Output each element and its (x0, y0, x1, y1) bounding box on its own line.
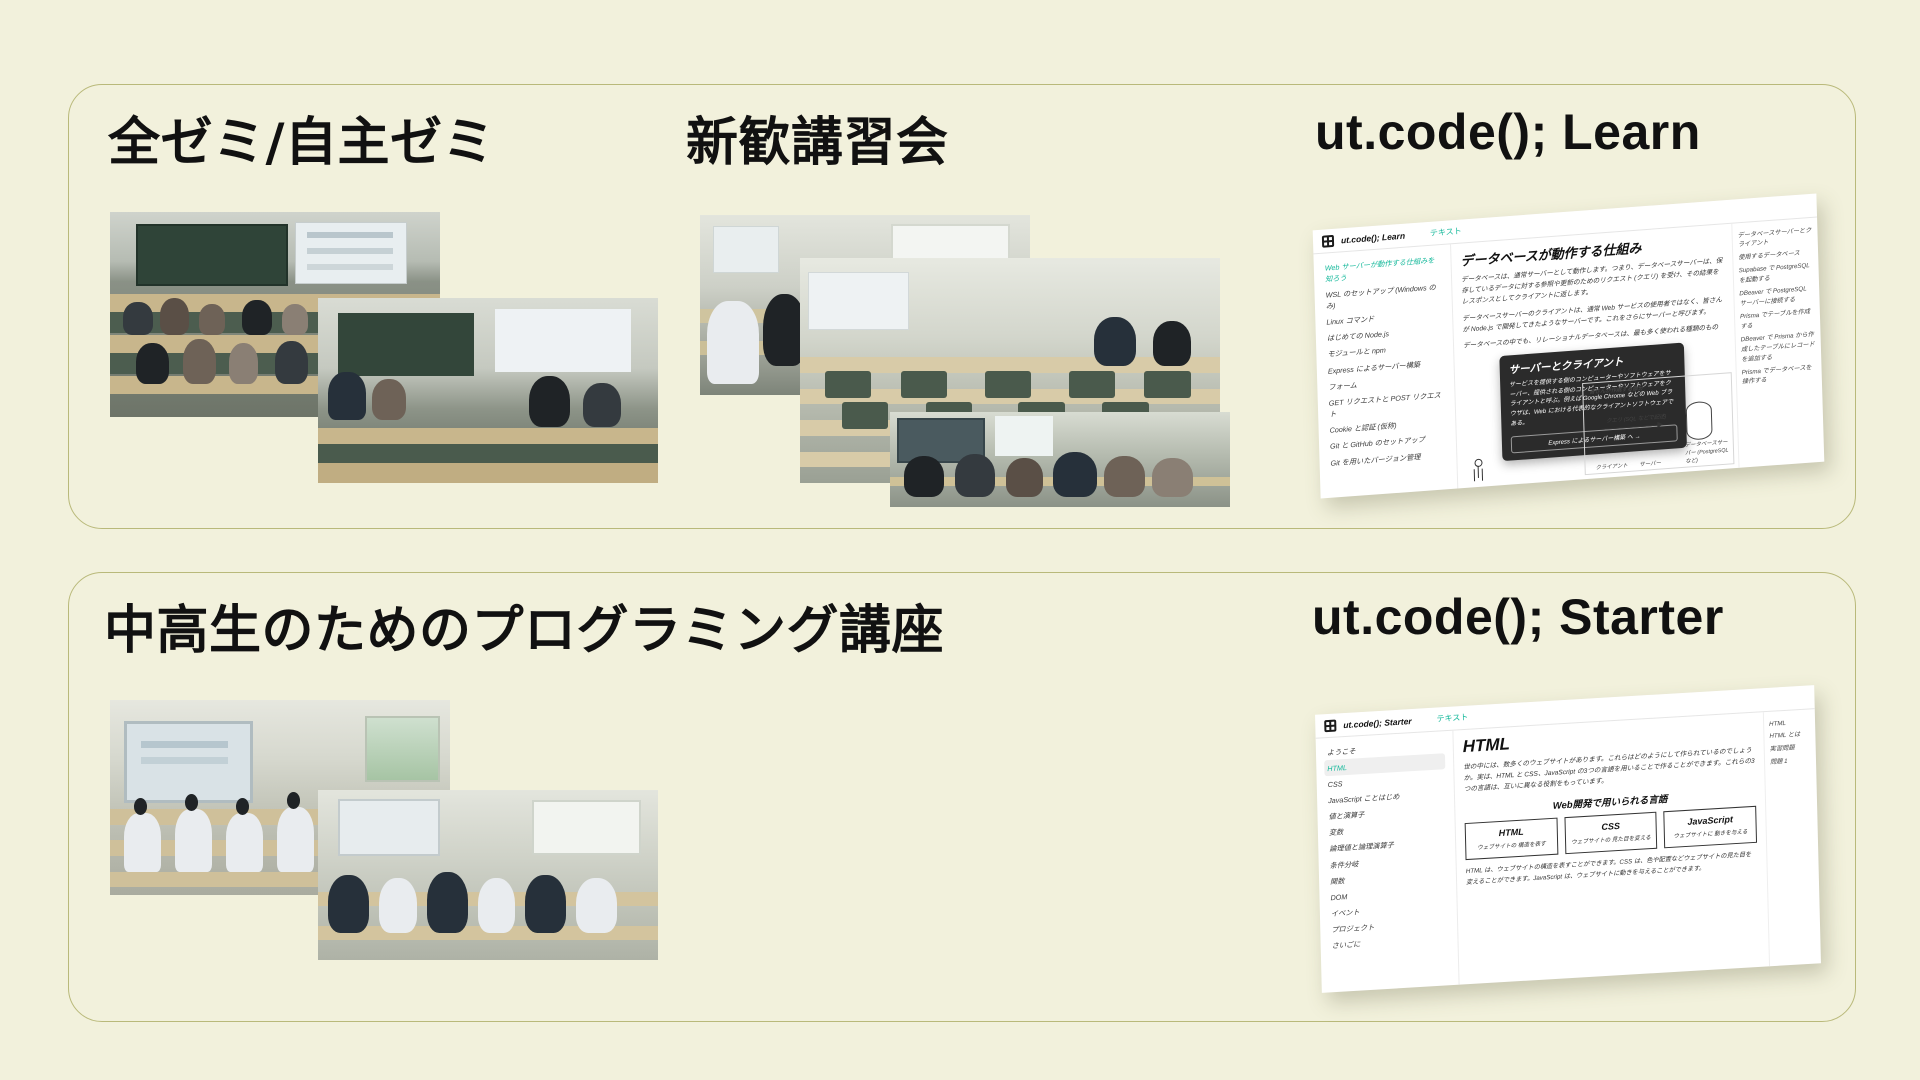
learn-toc-item[interactable]: DBeaver で Prisma から作成したテーブルにレコードを追加する (1741, 328, 1817, 366)
language-box: CSS ウェブサイトの 見た目を変える (1564, 811, 1657, 854)
learn-diagram: 皆さんが作成する部分 クエリ (SQL などで記述) クライアント サーバー デ… (1582, 372, 1734, 475)
language-box-desc: ウェブサイトの 構造を表す (1470, 840, 1553, 854)
heading-zemi: 全ゼミ/自主ゼミ (108, 100, 495, 175)
screenshot-utcode-learn: ut.code(); Learn テキスト Web サーバーが動作する仕組みを知… (1313, 193, 1825, 498)
heading-chuko-course: 中高生のためのプログラミング講座 (104, 588, 944, 663)
language-box-title: JavaScript (1669, 813, 1752, 828)
learn-brand: ut.code(); Learn (1341, 230, 1405, 245)
language-box: JavaScript ウェブサイトに 動きを与える (1664, 805, 1757, 848)
starter-sidebar[interactable]: ようこそ HTML CSS JavaScript ことはじめ 値と演算子 変数 … (1316, 731, 1460, 993)
screenshot-utcode-starter: ut.code(); Starter テキスト ようこそ HTML CSS Ja… (1315, 685, 1821, 993)
person-stick-figure-icon (1471, 459, 1484, 482)
heading-utcode-learn: ut.code(); Learn (1315, 103, 1701, 161)
utcode-logo-icon (1324, 719, 1336, 732)
language-box-desc: ウェブサイトの 見た目を変える (1570, 834, 1653, 848)
starter-tab-text[interactable]: テキスト (1436, 712, 1468, 725)
learn-main-content: データベースが動作する仕組み データベースは、通常サーバーとして動作します。つま… (1451, 224, 1738, 489)
slide-root: 全ゼミ/自主ゼミ 新歓講習会 ut.code(); Learn (0, 0, 1920, 1080)
heading-shinkan: 新歓講習会 (686, 100, 949, 175)
learn-sidebar[interactable]: Web サーバーが動作する仕組みを知ろう WSL のセットアップ (Window… (1313, 244, 1458, 498)
diagram-label: クライアント (1595, 461, 1627, 471)
learn-tab-text[interactable]: テキスト (1430, 226, 1462, 239)
starter-main-content: HTML 世の中には、数多くのウェブサイトがあります。これらはどのようにして作ら… (1453, 712, 1769, 984)
language-box-title: CSS (1569, 819, 1652, 834)
language-box-title: HTML (1470, 825, 1553, 840)
diagram-label: データベースサーバー (PostgreSQL など) (1685, 438, 1730, 465)
starter-right-panel[interactable]: HTML HTML とは 実習問題 問題 1 (1763, 709, 1821, 966)
learn-toc-item[interactable]: Prisma でデータベースを操作する (1742, 361, 1817, 389)
utcode-logo-icon (1322, 234, 1334, 247)
diagram-label: サーバー (1639, 459, 1661, 469)
starter-toc-item[interactable]: 問題 1 (1770, 754, 1811, 769)
photo-chuko-students (318, 790, 658, 960)
starter-brand: ut.code(); Starter (1343, 716, 1412, 730)
heading-utcode-starter: ut.code(); Starter (1312, 588, 1724, 646)
language-box-desc: ウェブサイトに 動きを与える (1669, 828, 1752, 842)
learn-right-panel[interactable]: データベースサーバーとクライアント 使用するデータベース Supabase で … (1731, 217, 1824, 467)
photo-zemi-classroom-seats (318, 298, 658, 483)
language-box: HTML ウェブサイトの 構造を表す (1465, 817, 1558, 860)
photo-shinkan-laptops (890, 412, 1230, 507)
database-cylinder-icon (1686, 401, 1713, 441)
diagram-label: 皆さんが作成する部分 (1589, 384, 1643, 396)
diagram-arrow-icon (1600, 424, 1662, 430)
